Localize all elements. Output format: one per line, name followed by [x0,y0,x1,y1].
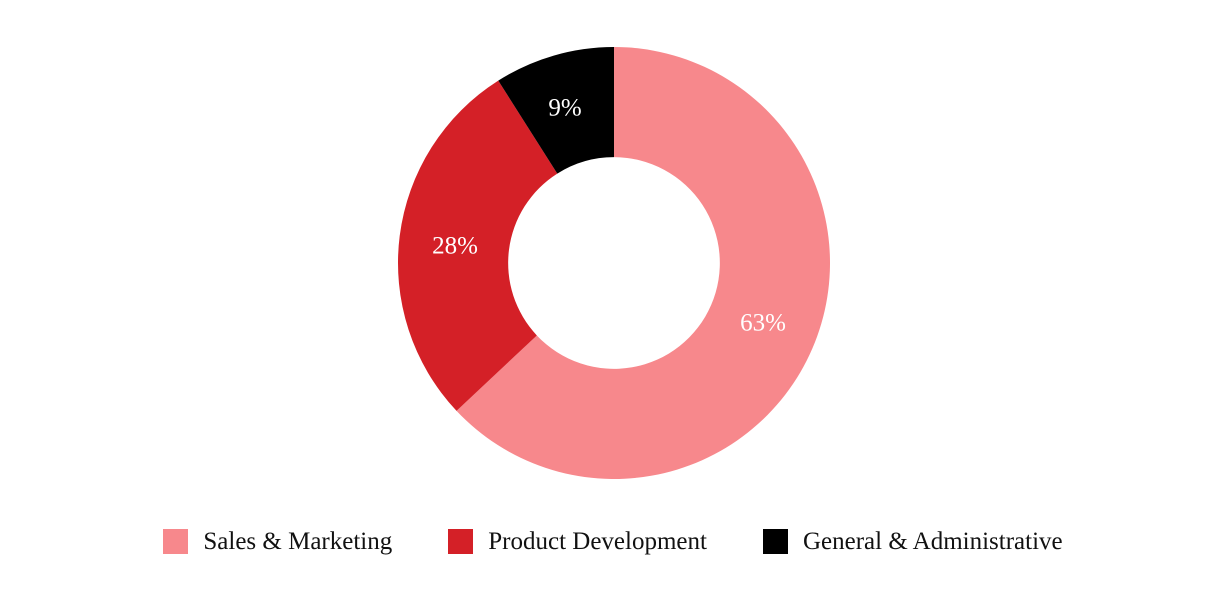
legend-item[interactable]: Product Development [448,529,707,554]
slice-data-label: 28% [432,233,478,260]
legend-swatch-icon [448,529,473,554]
legend-item[interactable]: General & Administrative [763,529,1063,554]
legend-swatch-icon [163,529,188,554]
donut-chart: 63%28%9% Sales & MarketingProduct Develo… [0,0,1226,600]
slice-data-label: 63% [740,310,786,337]
chart-plot-area: 63%28%9% [0,0,1226,505]
legend-item[interactable]: Sales & Marketing [163,529,392,554]
donut-svg: 63%28%9% [0,0,1226,505]
legend-item-label: General & Administrative [803,529,1063,554]
chart-legend: Sales & MarketingProduct DevelopmentGene… [0,505,1226,600]
legend-swatch-icon [763,529,788,554]
legend-item-label: Sales & Marketing [203,529,392,554]
donut-slice-group [398,47,830,479]
slice-data-label: 9% [548,95,581,122]
legend-item-label: Product Development [488,529,707,554]
